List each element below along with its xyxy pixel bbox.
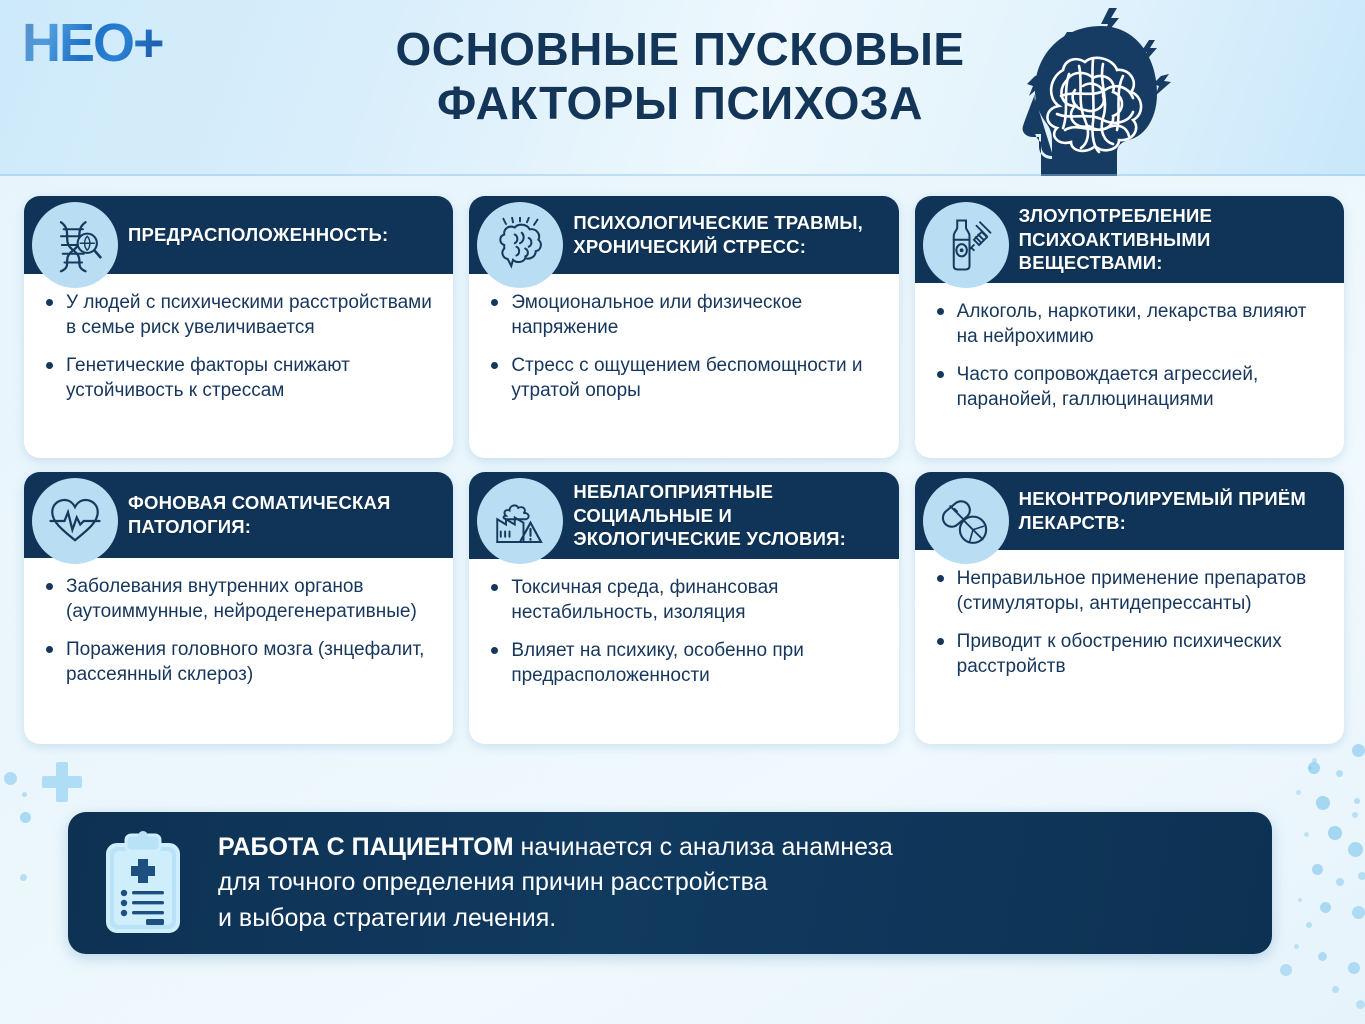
list-item: Генетические факторы снижают устойчивост… [42,353,435,403]
card-predisposition: ПРЕДРАСПОЛОЖЕННОСТЬ: У людей с психическ… [24,196,453,458]
stressed-brain-icon [477,202,563,288]
header-banner: НЕО+ ОСНОВНЫЕ ПУСКОВЫЕ ФАКТОРЫ ПСИХОЗА [0,0,1365,176]
heart-pulse-icon [32,478,118,564]
footer-text: РАБОТА С ПАЦИЕНТОМ начинается с анализа … [218,830,923,937]
list-item: Стресс с ощущением беспомощности и утрат… [487,353,880,403]
list-item: Алкоголь, наркотики, лекарства влияют на… [933,299,1326,349]
factor-cards-grid: ПРЕДРАСПОЛОЖЕННОСТЬ: У людей с психическ… [24,196,1344,744]
bullet-list: Алкоголь, наркотики, лекарства влияют на… [933,299,1326,412]
pills-icon [923,478,1009,564]
card-header: ФОНОВАЯ СОМАТИЧЕСКАЯ ПАТОЛОГИЯ: [24,472,453,558]
card-substance-abuse: ЗЛОУПОТРЕБЛЕНИЕ ПСИХОАКТИВНЫМИ ВЕЩЕСТВАМ… [915,196,1344,458]
footer-rest: начинается с анализа анамнеза [514,833,893,861]
list-item: У людей с психическими расстройствами в … [42,290,435,340]
card-title: ЗЛОУПОТРЕБЛЕНИЕ ПСИХОАКТИВНЫМИ ВЕЩЕСТВАМ… [1019,204,1328,275]
list-item: Эмоциональное или физическое напряжение [487,290,880,340]
bottle-syringe-icon [923,202,1009,288]
bullet-list: Заболевания внутренних органов (аутоимму… [42,574,435,687]
footer-line-1: РАБОТА С ПАЦИЕНТОМ начинается с анализа … [218,830,893,866]
card-body: Неправильное применение препаратов (стим… [915,550,1344,697]
card-header: ЗЛОУПОТРЕБЛЕНИЕ ПСИХОАКТИВНЫМИ ВЕЩЕСТВАМ… [915,196,1344,283]
dna-magnifier-icon [32,202,118,288]
card-body: Эмоциональное или физическое напряжение … [469,274,898,421]
card-header: НЕКОНТРОЛИРУЕМЫЙ ПРИЁМ ЛЕКАРСТВ: [915,472,1344,550]
card-body: Токсичная среда, финансовая нестабильнос… [469,559,898,706]
card-body: Заболевания внутренних органов (аутоимму… [24,558,453,705]
list-item: Влияет на психику, особенно при предрасп… [487,638,880,688]
factory-warning-icon [477,478,563,564]
card-psychological-trauma: ПСИХОЛОГИЧЕСКИЕ ТРАВМЫ, ХРОНИЧЕСКИЙ СТРЕ… [469,196,898,458]
clipboard-medical-icon [68,831,218,935]
plus-decor-icon [42,762,82,802]
card-header: НЕБЛАГОПРИЯТНЫЕ СОЦИАЛЬНЫЕ И ЭКОЛОГИЧЕСК… [469,472,898,559]
card-header: ПСИХОЛОГИЧЕСКИЕ ТРАВМЫ, ХРОНИЧЕСКИЙ СТРЕ… [469,196,898,274]
card-title: ПСИХОЛОГИЧЕСКИЕ ТРАВМЫ, ХРОНИЧЕСКИЙ СТРЕ… [573,211,882,258]
footer-line-2: для точного определения причин расстройс… [218,865,893,901]
card-title: ПРЕДРАСПОЛОЖЕННОСТЬ: [128,223,388,247]
page-title: ОСНОВНЫЕ ПУСКОВЫЕ ФАКТОРЫ ПСИХОЗА [330,22,1030,131]
list-item: Поражения головного мозга (знцефалит, ра… [42,637,435,687]
card-social-ecological: НЕБЛАГОПРИЯТНЫЕ СОЦИАЛЬНЫЕ И ЭКОЛОГИЧЕСК… [469,472,898,744]
card-title: ФОНОВАЯ СОМАТИЧЕСКАЯ ПАТОЛОГИЯ: [128,491,437,538]
card-body: Алкоголь, наркотики, лекарства влияют на… [915,283,1344,430]
card-uncontrolled-medication: НЕКОНТРОЛИРУЕМЫЙ ПРИЁМ ЛЕКАРСТВ: Неправи… [915,472,1344,744]
list-item: Токсичная среда, финансовая нестабильнос… [487,575,880,625]
footer-line-3: и выбора стратегии лечения. [218,901,893,937]
page-title-line-2: ФАКТОРЫ ПСИХОЗА [330,76,1030,130]
card-title: НЕКОНТРОЛИРУЕМЫЙ ПРИЁМ ЛЕКАРСТВ: [1019,487,1328,534]
bullet-list: Неправильное применение препаратов (стим… [933,566,1326,679]
bullet-list: Токсичная среда, финансовая нестабильнос… [487,575,880,688]
page-title-line-1: ОСНОВНЫЕ ПУСКОВЫЕ [330,22,1030,76]
bullet-list: У людей с психическими расстройствами в … [42,290,435,403]
list-item: Приводит к обострению психических расстр… [933,629,1326,679]
brand-logo: НЕО+ [22,14,202,72]
card-title: НЕБЛАГОПРИЯТНЫЕ СОЦИАЛЬНЫЕ И ЭКОЛОГИЧЕСК… [573,480,882,551]
list-item: Часто сопровождается агрессией, паранойе… [933,362,1326,412]
footer-strong: РАБОТА С ПАЦИЕНТОМ [218,833,514,861]
card-header: ПРЕДРАСПОЛОЖЕННОСТЬ: [24,196,453,274]
footer-callout: РАБОТА С ПАЦИЕНТОМ начинается с анализа … [68,812,1272,954]
list-item: Неправильное применение препаратов (стим… [933,566,1326,616]
card-body: У людей с психическими расстройствами в … [24,274,453,421]
list-item: Заболевания внутренних органов (аутоимму… [42,574,435,624]
bullet-list: Эмоциональное или физическое напряжение … [487,290,880,403]
card-somatic-pathology: ФОНОВАЯ СОМАТИЧЕСКАЯ ПАТОЛОГИЯ: Заболева… [24,472,453,744]
head-tangled-brain-icon [1005,2,1185,176]
